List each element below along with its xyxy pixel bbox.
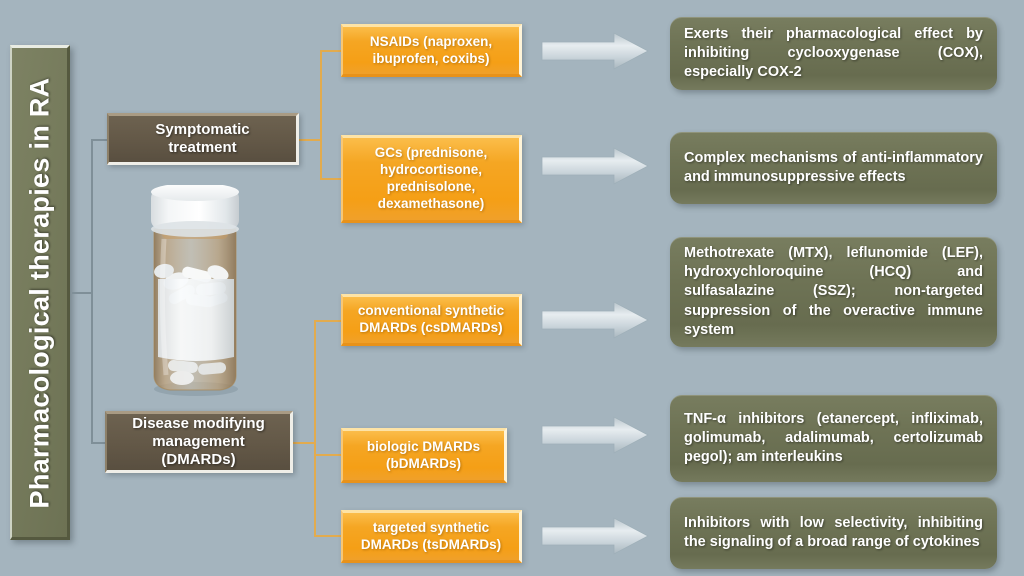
arrow-icon-tsdmards <box>540 516 650 556</box>
connector-to-csdmards <box>314 320 341 322</box>
description-box-gcs[interactable]: Complex mechanisms of anti-inflammatory … <box>670 132 997 204</box>
arrow-icon-gcs <box>540 146 650 186</box>
description-text-csdmards: Methotrexate (MTX), leflunomide (LEF), h… <box>684 244 983 340</box>
connector-symptomatic-vertical <box>320 50 322 180</box>
drug-label-nsaids: NSAIDs (naproxen, ibuprofen, coxibs) <box>370 34 492 68</box>
drug-box-csdmards[interactable]: conventional synthetic DMARDs (csDMARDs) <box>341 294 522 346</box>
connector-banner-stem <box>72 292 92 294</box>
drug-box-nsaids[interactable]: NSAIDs (naproxen, ibuprofen, coxibs) <box>341 24 522 77</box>
arrow-icon-bdmards <box>540 415 650 455</box>
category-label-dmards: Disease modifying management (DMARDs) <box>132 415 265 469</box>
category-label-symptomatic: Symptomatic treatment <box>155 121 249 157</box>
drug-box-tsdmards[interactable]: targeted synthetic DMARDs (tsDMARDs) <box>341 510 522 563</box>
drug-label-csdmards: conventional synthetic DMARDs (csDMARDs) <box>358 303 504 337</box>
arrow-icon-csdmards <box>540 300 650 340</box>
diagram-canvas: Pharmacological therapies in RA Symptoma… <box>0 0 1024 576</box>
category-box-dmards[interactable]: Disease modifying management (DMARDs) <box>105 411 293 473</box>
connector-dmards-stem <box>293 442 315 444</box>
connector-to-bdmards <box>314 454 341 456</box>
description-text-nsaids: Exerts their pharmacological effect by i… <box>684 25 983 82</box>
banner-label: Pharmacological therapies in RA <box>24 77 55 508</box>
drug-box-gcs[interactable]: GCs (prednisone, hydrocortisone, prednis… <box>341 135 522 223</box>
connector-symptomatic-stem <box>299 139 321 141</box>
description-box-csdmards[interactable]: Methotrexate (MTX), leflunomide (LEF), h… <box>670 237 997 347</box>
description-text-bdmards: TNF-α inhibitors (etanercept, infliximab… <box>684 410 983 467</box>
banner-pharmacological-therapies: Pharmacological therapies in RA <box>10 45 70 540</box>
connector-to-symptomatic <box>91 139 108 141</box>
description-box-nsaids[interactable]: Exerts their pharmacological effect by i… <box>670 17 997 90</box>
category-box-symptomatic[interactable]: Symptomatic treatment <box>107 113 299 165</box>
connector-to-nsaids <box>320 50 341 52</box>
pill-bottle-illustration <box>142 185 247 397</box>
connector-to-tsdmards <box>314 535 341 537</box>
drug-label-tsdmards: targeted synthetic DMARDs (tsDMARDs) <box>361 520 501 554</box>
arrow-icon-nsaids <box>540 31 650 71</box>
connector-to-gcs <box>320 178 341 180</box>
drug-label-gcs: GCs (prednisone, hydrocortisone, prednis… <box>375 145 488 213</box>
description-text-tsdmards: Inhibitors with low selectivity, inhibit… <box>684 514 983 552</box>
connector-banner-vertical <box>91 139 93 444</box>
drug-label-bdmards: biologic DMARDs (bDMARDs) <box>367 439 480 473</box>
connector-dmards-vertical <box>314 320 316 536</box>
description-box-bdmards[interactable]: TNF-α inhibitors (etanercept, infliximab… <box>670 395 997 482</box>
description-box-tsdmards[interactable]: Inhibitors with low selectivity, inhibit… <box>670 497 997 569</box>
drug-box-bdmards[interactable]: biologic DMARDs (bDMARDs) <box>341 428 507 483</box>
description-text-gcs: Complex mechanisms of anti-inflammatory … <box>684 149 983 187</box>
